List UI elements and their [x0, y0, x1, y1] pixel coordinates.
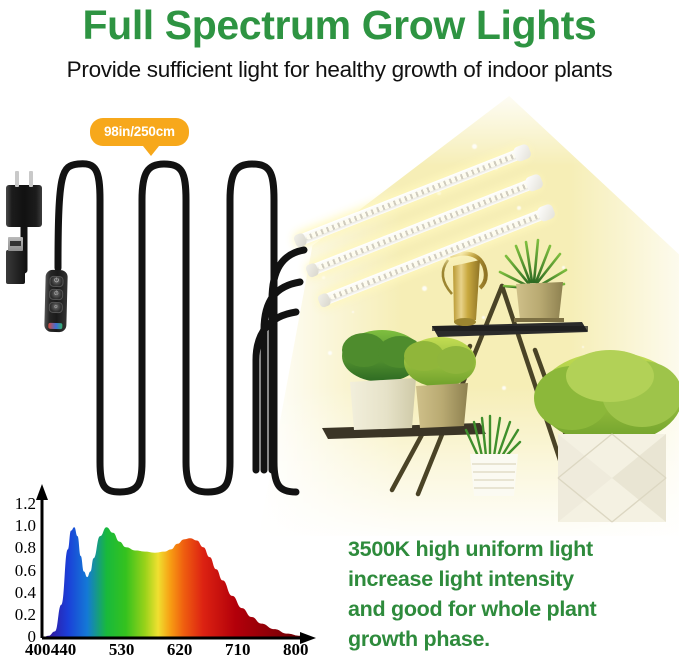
wall-power-adapter [6, 185, 42, 227]
x-axis-tick-label: 710 [225, 640, 251, 660]
x-axis-tick-label: 400 [25, 640, 51, 660]
y-axis-tick-label: 1.2 [0, 494, 36, 514]
brightness-up-button[interactable]: ☼ [49, 302, 63, 313]
sparkle [517, 206, 521, 210]
sparkle [328, 216, 331, 219]
sparkle [400, 136, 403, 139]
x-axis-tick-label: 800 [283, 640, 309, 660]
herb-plant-white-pot [342, 330, 422, 430]
y-axis-tick-label: 0.6 [0, 561, 36, 581]
badge-pointer [143, 146, 159, 156]
x-axis-tick-label: 530 [109, 640, 135, 660]
spectrum-plot [0, 482, 330, 664]
sparkle [472, 144, 477, 149]
y-axis-tick-label: 0.2 [0, 605, 36, 625]
gold-watering-can [443, 254, 486, 326]
inline-controller[interactable]: ⏻ ⏱ ☼ [44, 270, 68, 333]
spectrum-curve [42, 527, 300, 638]
plug-prong [15, 171, 19, 187]
feature-line: increase light intensity [348, 564, 678, 594]
mode-indicator [48, 323, 62, 329]
sparkle [352, 156, 354, 158]
page-subtitle: Provide sufficient light for healthy gro… [0, 56, 679, 84]
power-button[interactable]: ⏻ [49, 276, 63, 287]
x-axis-tick-label: 620 [167, 640, 193, 660]
plug-prong [29, 171, 33, 187]
usb-connector-tip [8, 237, 23, 251]
cable-length-badge: 98in/250cm [90, 118, 189, 146]
page-title: Full Spectrum Grow Lights [0, 2, 679, 48]
product-infographic: Full Spectrum Grow Lights Provide suffic… [0, 0, 679, 664]
feature-text-block: 3500K high uniform light increase light … [348, 534, 678, 654]
y-axis-arrow [36, 484, 48, 500]
bushy-plant-white-cube-pot [534, 350, 679, 522]
upper-shelf [432, 322, 588, 337]
x-axis-tick-label: 440 [51, 640, 77, 660]
spectrum-chart: 00.20.40.60.81.01.2 400440530620710800 [0, 482, 330, 664]
y-axis-tick-label: 0.4 [0, 583, 36, 603]
sparkle [362, 191, 365, 194]
timer-button[interactable]: ⏱ [49, 289, 63, 300]
usb-a-plug [6, 250, 25, 284]
y-axis-tick-label: 0.8 [0, 538, 36, 558]
y-axis-tick-label: 1.0 [0, 516, 36, 536]
feature-line: growth phase. [348, 624, 678, 654]
feature-line: and good for whole plant [348, 594, 678, 624]
feature-line: 3500K high uniform light [348, 534, 678, 564]
